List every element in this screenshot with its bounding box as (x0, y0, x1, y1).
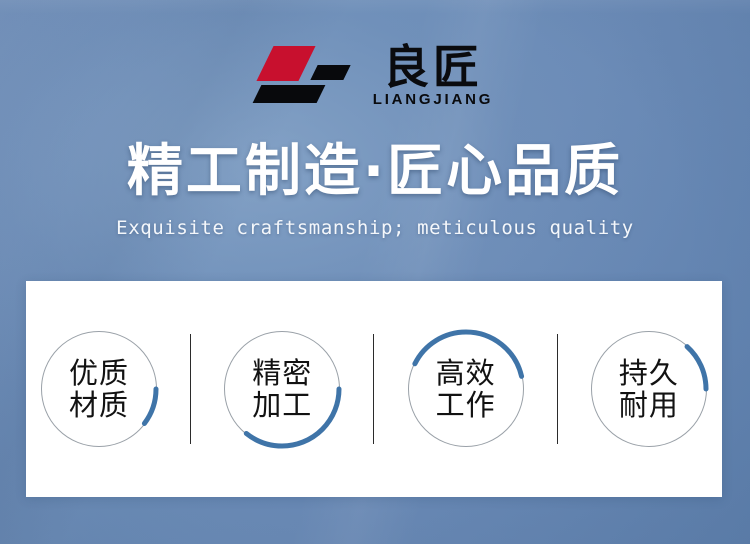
feature-label: 优质 材质 (69, 357, 129, 422)
feature-label-line2: 耐用 (619, 389, 679, 421)
feature-label-line1: 持久 (619, 357, 679, 389)
feature-label-line1: 高效 (436, 357, 496, 389)
feature-item-durable-use: 持久 耐用 (586, 326, 712, 452)
feature-label-line1: 精密 (252, 357, 312, 389)
feature-divider (373, 334, 374, 444)
brand-wordmark: 良匠 LIANGJIANG (373, 45, 494, 107)
feature-label: 高效 工作 (436, 357, 496, 422)
logo-black-dash-icon (310, 65, 350, 80)
feature-panel: 优质 材质 精密 加工 (26, 281, 722, 497)
feature-label: 持久 耐用 (619, 357, 679, 422)
brand-name-en: LIANGJIANG (373, 92, 494, 107)
brand-logo: 良匠 LIANGJIANG (0, 40, 750, 112)
liangjiang-logo-mark-icon (257, 45, 355, 107)
feature-divider (190, 334, 191, 444)
background-top-highlight (0, 0, 750, 14)
feature-item-precision-machining: 精密 加工 (219, 326, 345, 452)
promotional-banner: 良匠 LIANGJIANG 精工制造·匠心品质 Exquisite crafts… (0, 0, 750, 544)
brand-name-cn: 良匠 (383, 45, 483, 89)
feature-label-line2: 工作 (436, 389, 496, 421)
feature-item-quality-material: 优质 材质 (36, 326, 162, 452)
feature-divider (557, 334, 558, 444)
feature-label: 精密 加工 (252, 357, 312, 422)
logo-black-bar-icon (252, 85, 325, 103)
feature-label-line2: 材质 (69, 389, 129, 421)
logo-red-parallelogram-icon (256, 46, 315, 81)
feature-label-line2: 加工 (252, 389, 312, 421)
hero-headline: 精工制造·匠心品质 (0, 126, 750, 207)
feature-label-line1: 优质 (69, 357, 129, 389)
feature-item-efficient-work: 高效 工作 (403, 326, 529, 452)
feature-list: 优质 材质 精密 加工 (26, 281, 722, 497)
hero-subtitle: Exquisite craftsmanship; meticulous qual… (0, 217, 750, 239)
